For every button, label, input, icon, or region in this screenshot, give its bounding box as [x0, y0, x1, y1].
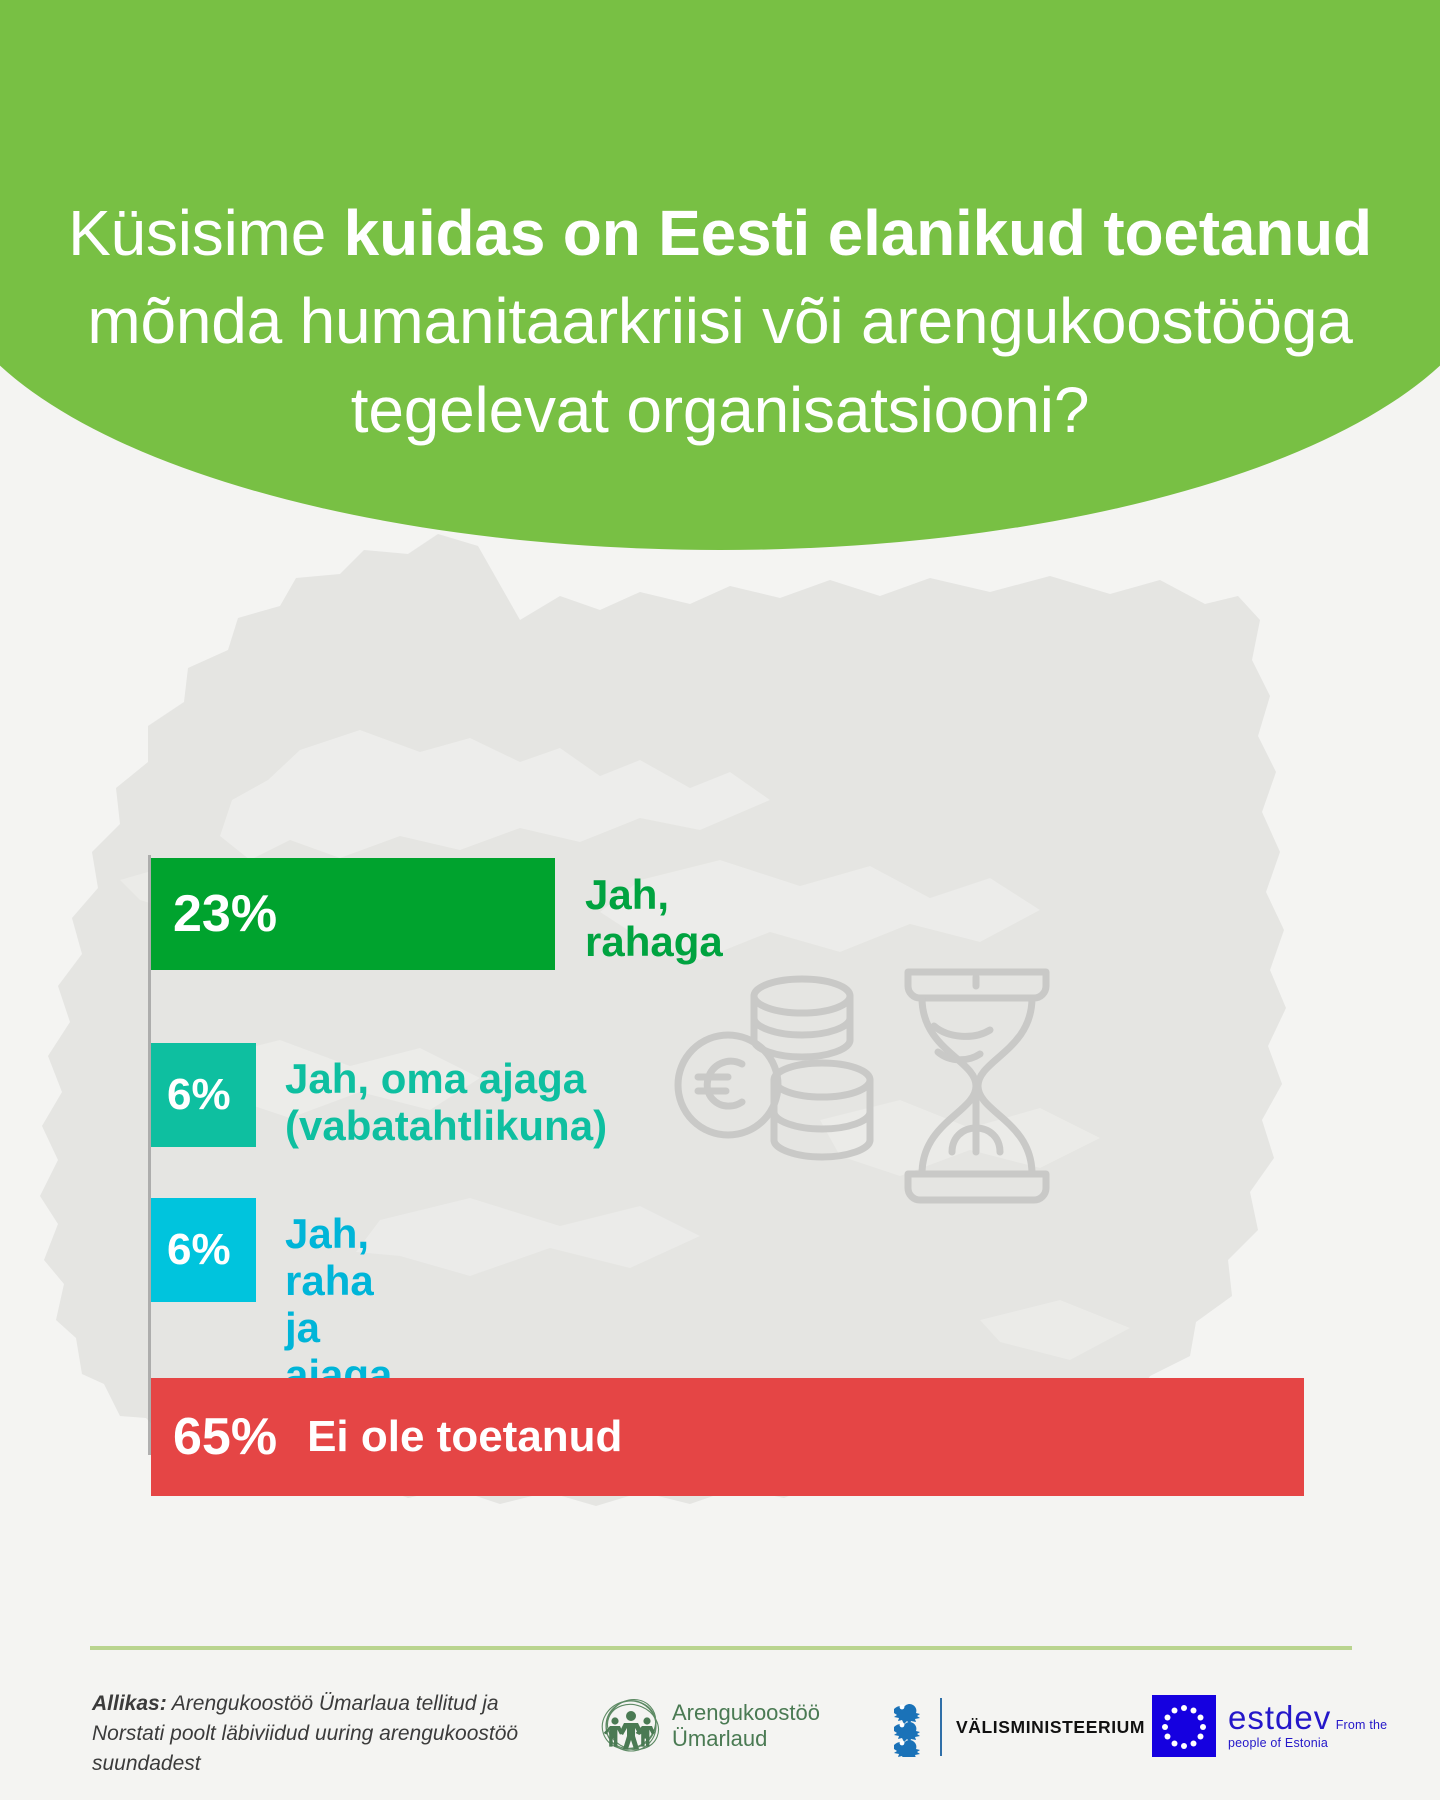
source-note: Allikas: Arengukoostöö Ümarlaua tellitud…: [92, 1689, 522, 1778]
logo-strip: ArengukoostööÜmarlaud: [600, 1681, 1400, 1781]
bar-fill-jah-oma-ajaga: 6%: [151, 1043, 256, 1147]
logo-divider: [940, 1698, 942, 1756]
logo-arengukoostoo-umarlaud-text: ArengukoostööÜmarlaud: [672, 1700, 820, 1751]
logo-valisministeerium-text: VÄLISMINISTEERIUM: [956, 1717, 1145, 1738]
footer-divider: [90, 1646, 1352, 1650]
logo-valisministeerium: VÄLISMINISTEERIUM: [890, 1697, 1145, 1757]
bar-fill-jah-raha-ja-ajaga: 6%: [151, 1198, 256, 1302]
logo-estdev: estdev From the people of Estonia: [1152, 1695, 1400, 1757]
bar-label-jah-oma-ajaga: Jah, oma ajaga (vabatahtlikuna): [285, 1055, 607, 1149]
bar-chart: 23% Jah, rahaga 6% Jah, oma ajaga (vabat…: [0, 0, 1440, 1800]
source-label: Allikas:: [92, 1692, 167, 1715]
bar-fill-jah-rahaga: 23%: [151, 858, 555, 970]
bar-value-jah-rahaga: 23%: [173, 888, 277, 940]
logo-arengukoostoo-umarlaud: ArengukoostööÜmarlaud: [600, 1695, 820, 1757]
bar-label-ei-ole-toetanud: Ei ole toetanud: [307, 1412, 622, 1462]
logo-akyl-line-2: Ümarlaud: [672, 1726, 767, 1751]
logo-estdev-text: estdev From the people of Estonia: [1228, 1701, 1400, 1752]
infographic-poster: Küsisime kuidas on Eesti elanikud toetan…: [0, 0, 1440, 1800]
estonian-coat-of-arms-icon: [890, 1697, 926, 1757]
logo-estdev-brand: estdev: [1228, 1699, 1331, 1736]
eu-stars-circle-icon: [1152, 1695, 1216, 1757]
arengukoostoo-umarlaud-mark-icon: [600, 1695, 662, 1757]
bar-value-ei-ole-toetanud: 65%: [173, 1411, 277, 1463]
footer: Allikas: Arengukoostöö Ümarlaua tellitud…: [0, 1665, 1440, 1800]
bar-label-jah-rahaga: Jah, rahaga: [585, 871, 723, 965]
bar-value-jah-raha-ja-ajaga: 6%: [167, 1228, 231, 1272]
bar-value-jah-oma-ajaga: 6%: [167, 1073, 231, 1117]
logo-akyl-line-1: Arengukoostöö: [672, 1700, 820, 1725]
bar-fill-ei-ole-toetanud: 65% Ei ole toetanud: [151, 1378, 1304, 1496]
bar-label-jah-raha-ja-ajaga: Jah, raha ja ajaga: [285, 1210, 392, 1398]
